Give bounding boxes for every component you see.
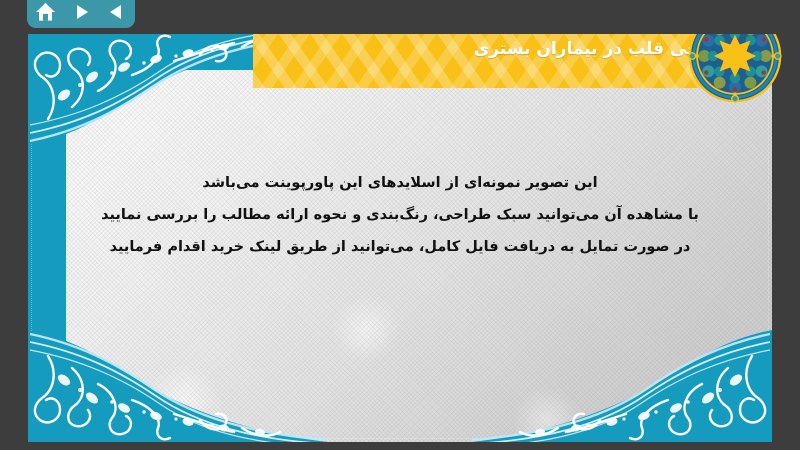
top-toolbar (0, 0, 800, 34)
body-line-3: در صورت تمایل به دریافت فایل کامل، می‌تو… (88, 237, 712, 258)
body-line-2: با مشاهده آن می‌توانید سبک طراحی، رنگ‌بن… (88, 205, 712, 226)
slide-viewer: این تصویر نمونه‌ای از اسلایدهای این پاور… (0, 0, 800, 450)
forward-button[interactable] (67, 0, 95, 24)
triangle-left-icon (107, 2, 127, 22)
back-button[interactable] (103, 0, 131, 24)
navigation-pill (27, 0, 135, 28)
triangle-right-icon (71, 2, 91, 22)
home-button[interactable] (31, 0, 59, 24)
home-icon (35, 2, 56, 22)
slide-frame: این تصویر نمونه‌ای از اسلایدهای این پاور… (28, 33, 772, 442)
body-line-1: این تصویر نمونه‌ای از اسلایدهای این پاور… (88, 173, 712, 194)
title-line-2: جراحی قلب در بیماران بستری (293, 35, 728, 63)
slide-body-text: این تصویر نمونه‌ای از اسلایدهای این پاور… (88, 173, 712, 269)
